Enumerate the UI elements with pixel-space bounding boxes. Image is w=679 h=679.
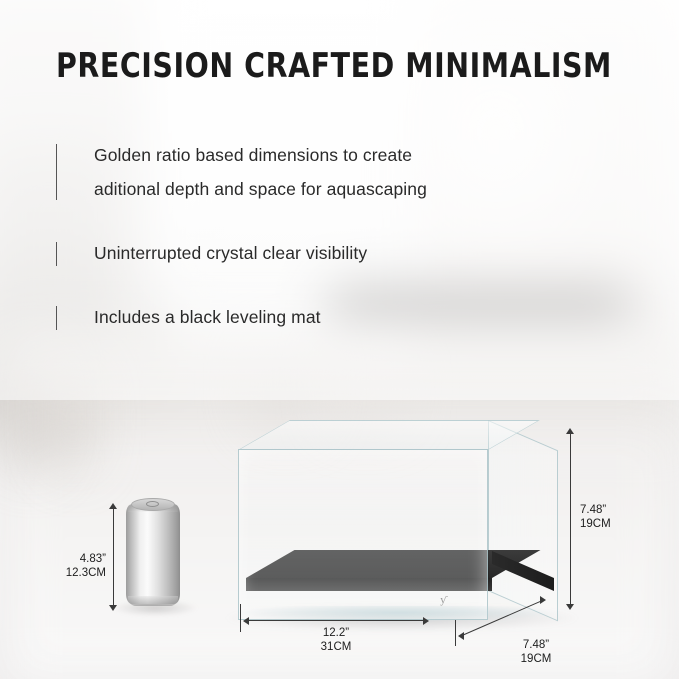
- can-pull-tab-icon: [146, 501, 159, 507]
- feature-line-1: Includes a black leveling mat: [94, 300, 616, 334]
- product-infographic: PRECISION CRAFTED MINIMALISM Golden rati…: [0, 0, 679, 679]
- tank-depth-label: 7.48” 19CM: [506, 638, 566, 666]
- tank-depth-arrow-left-icon: [458, 632, 464, 640]
- tank-width-label: 12.2” 31CM: [306, 626, 366, 654]
- feature-item-leveling-mat: Includes a black leveling mat: [56, 300, 616, 334]
- tank-top-face: [238, 420, 540, 450]
- tank-depth-arrow-right-icon: [540, 596, 546, 604]
- can-height-line: [113, 508, 114, 606]
- brand-logo-icon: ƴ: [435, 593, 451, 607]
- feature-line-2: aditional depth and space for aquascapin…: [94, 172, 616, 206]
- tank-side-face: [488, 420, 558, 621]
- tank-width-tick-left: [240, 604, 241, 632]
- tank-width-line: [248, 620, 424, 621]
- feature-list: Golden ratio based dimensions to create …: [56, 138, 616, 364]
- tank-height-line: [570, 433, 571, 605]
- can-height-cm: 12.3CM: [42, 566, 106, 580]
- tank-height-label: 7.48” 19CM: [580, 503, 611, 531]
- bullet-rule-icon: [56, 144, 57, 200]
- bullet-rule-icon: [56, 242, 57, 266]
- can-height-arrow-top-icon: [109, 503, 117, 509]
- tank-height-arrow-bottom-icon: [566, 604, 574, 610]
- soda-can: [126, 496, 180, 612]
- can-height-arrow-bottom-icon: [109, 605, 117, 611]
- feature-item-golden-ratio: Golden ratio based dimensions to create …: [56, 138, 616, 206]
- can-height-label: 4.83” 12.3CM: [42, 552, 106, 580]
- can-height-inches: 4.83”: [42, 552, 106, 566]
- tank-width-cm: 31CM: [306, 640, 366, 654]
- feature-line-1: Uninterrupted crystal clear visibility: [94, 236, 616, 270]
- tank-depth-inches: 7.48”: [506, 638, 566, 652]
- feature-line-1: Golden ratio based dimensions to create: [94, 138, 616, 172]
- tank-height-arrow-top-icon: [566, 428, 574, 434]
- bullet-rule-icon: [56, 306, 57, 330]
- can-bottom: [128, 596, 178, 606]
- tank-height-cm: 19CM: [580, 517, 611, 531]
- tank-height-inches: 7.48”: [580, 503, 611, 517]
- feature-item-visibility: Uninterrupted crystal clear visibility: [56, 236, 616, 270]
- page-title: PRECISION CRAFTED MINIMALISM: [56, 46, 612, 86]
- tank-depth-tick-left: [455, 620, 456, 646]
- aquarium-tank: ƴ: [238, 420, 558, 620]
- tank-depth-cm: 19CM: [506, 652, 566, 666]
- can-body: [126, 504, 180, 604]
- tank-width-inches: 12.2”: [306, 626, 366, 640]
- tank-width-arrow-right-icon: [423, 617, 429, 625]
- tank-width-arrow-left-icon: [243, 617, 249, 625]
